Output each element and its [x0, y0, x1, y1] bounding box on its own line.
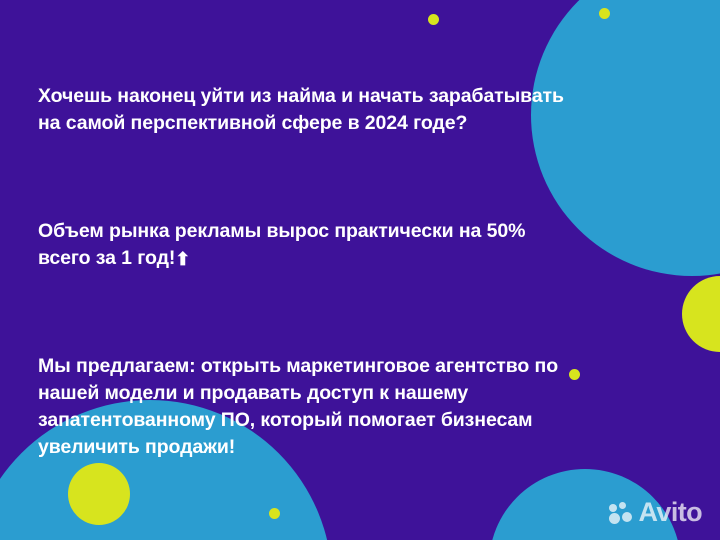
- promo-copy-block: Хочешь наконец уйти из найма и начать за…: [38, 56, 568, 488]
- avito-dots-icon: [609, 502, 634, 524]
- yellow-dot-mid-right-area: [569, 369, 580, 380]
- yellow-dot-top-right-area: [599, 8, 610, 19]
- paragraph-spacer: [38, 164, 568, 191]
- avito-watermark: Avito: [609, 499, 703, 526]
- promo-paragraph-offer: Мы предлагаем: открыть маркетинговое аге…: [38, 353, 568, 461]
- market-growth-text: Объем рынка рекламы вырос практически на…: [38, 220, 525, 269]
- avito-wordmark: Avito: [639, 499, 703, 526]
- yellow-dot-bottom-area: [269, 508, 280, 519]
- promo-paragraph-headline: Хочешь наконец уйти из найма и начать за…: [38, 83, 568, 137]
- promo-paragraph-market-growth: Объем рынка рекламы вырос практически на…: [38, 218, 568, 272]
- paragraph-spacer: [38, 299, 568, 326]
- arrow-up-icon: ⬆: [175, 250, 190, 268]
- yellow-dot-top-left-area: [428, 14, 439, 25]
- yellow-circle-right-middle: [682, 276, 720, 352]
- promo-poster: Хочешь наконец уйти из найма и начать за…: [0, 0, 720, 540]
